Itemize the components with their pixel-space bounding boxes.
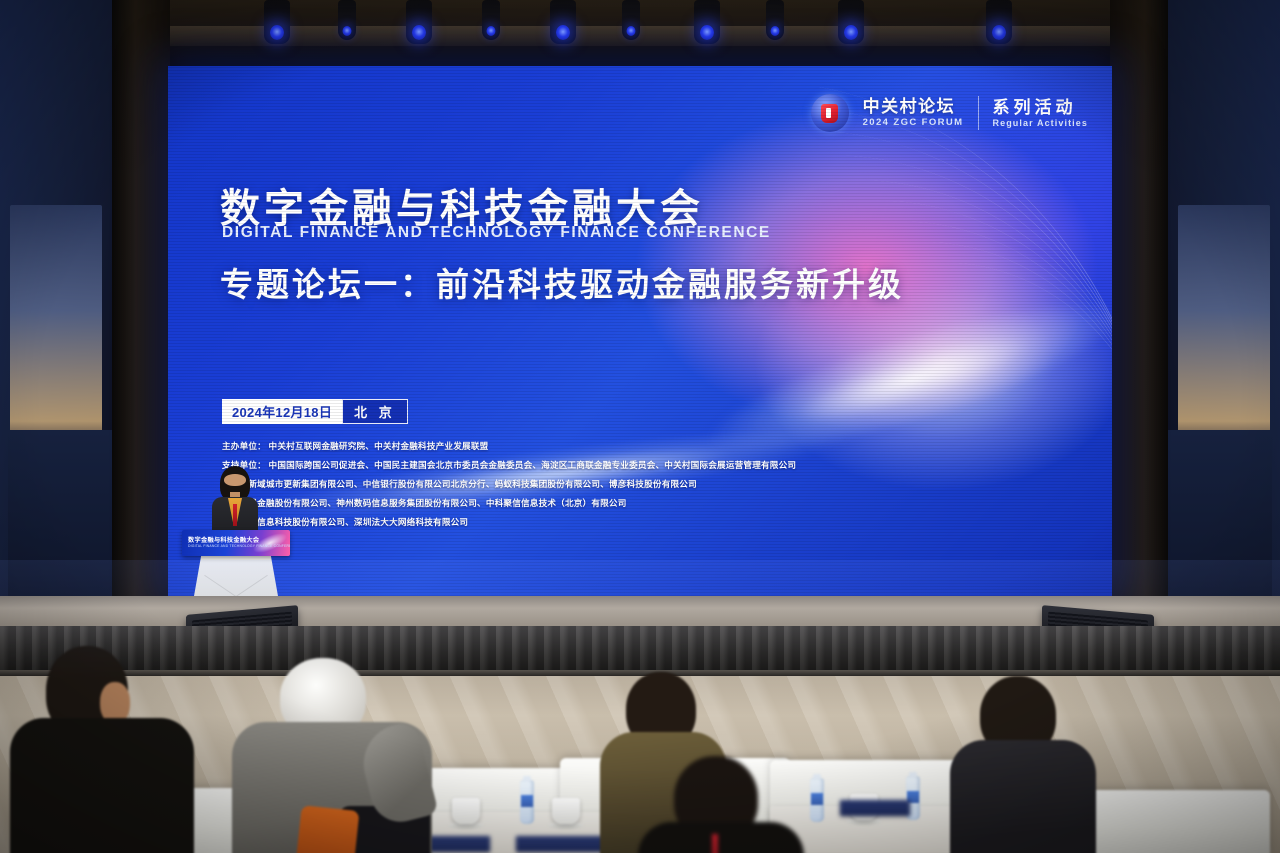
- column-right: [1110, 0, 1168, 660]
- stage-light-fixture: [406, 0, 432, 44]
- stage-light-fixture: [622, 0, 640, 40]
- ceiling-band: [0, 26, 1280, 48]
- person-scarf: [295, 805, 360, 853]
- stage-light-fixture: [838, 0, 864, 44]
- stage-light-fixture: [766, 0, 784, 40]
- wall-panel-upper-right: [1178, 205, 1270, 440]
- speaker-person: [203, 466, 267, 538]
- lamp-bulb-icon: [627, 26, 636, 36]
- lamp-bulb-icon: [343, 26, 352, 36]
- audience-person: [950, 676, 1090, 853]
- speaker-lanyard: [233, 504, 237, 526]
- lamp-bulb-icon: [771, 26, 780, 36]
- person-torso: [638, 822, 804, 853]
- place-name-card: [840, 800, 910, 816]
- lamp-bulb-icon: [412, 25, 426, 40]
- audience-person: [10, 646, 188, 853]
- water-bottle: [810, 778, 824, 822]
- person-torso: [950, 740, 1096, 853]
- podium-banner: 数字金融与科技金融大会 DIGITAL FINANCE AND TECHNOLO…: [182, 530, 290, 556]
- stage-light-fixture: [694, 0, 720, 44]
- tea-cup: [552, 798, 580, 824]
- stage-light-fixture: [986, 0, 1012, 44]
- podium-banner-title: 数字金融与科技金融大会: [188, 535, 259, 544]
- stage-light-fixture: [264, 0, 290, 44]
- stage-light-fixture: [338, 0, 356, 40]
- lamp-bulb-icon: [844, 25, 858, 40]
- stage-skirt: [0, 626, 1280, 672]
- audience-person-foreground: [638, 756, 798, 853]
- led-screen: 中关村论坛 2024 ZGC FORUM 系列活动 Regular Activi…: [168, 66, 1112, 596]
- person-lanyard: [712, 834, 718, 853]
- lamp-bulb-icon: [992, 25, 1006, 40]
- lamp-bulb-icon: [487, 26, 496, 36]
- place-name-card: [516, 836, 608, 852]
- lamp-bulb-icon: [556, 25, 570, 40]
- conference-photo-scene: 中关村论坛 2024 ZGC FORUM 系列活动 Regular Activi…: [0, 0, 1280, 853]
- tea-cup: [452, 798, 480, 824]
- screen-vignette: [168, 66, 1112, 596]
- water-bottle: [520, 780, 534, 824]
- stage-light-fixture: [482, 0, 500, 40]
- wall-panel-upper-left: [10, 205, 102, 440]
- column-left: [112, 0, 170, 660]
- stage-light-fixture: [550, 0, 576, 44]
- person-torso: [10, 718, 194, 853]
- audience-person: [226, 658, 436, 853]
- podium-banner-subtitle: DIGITAL FINANCE AND TECHNOLOGY FINANCE C…: [188, 544, 290, 548]
- lamp-bulb-icon: [270, 25, 284, 40]
- lamp-bulb-icon: [700, 25, 714, 40]
